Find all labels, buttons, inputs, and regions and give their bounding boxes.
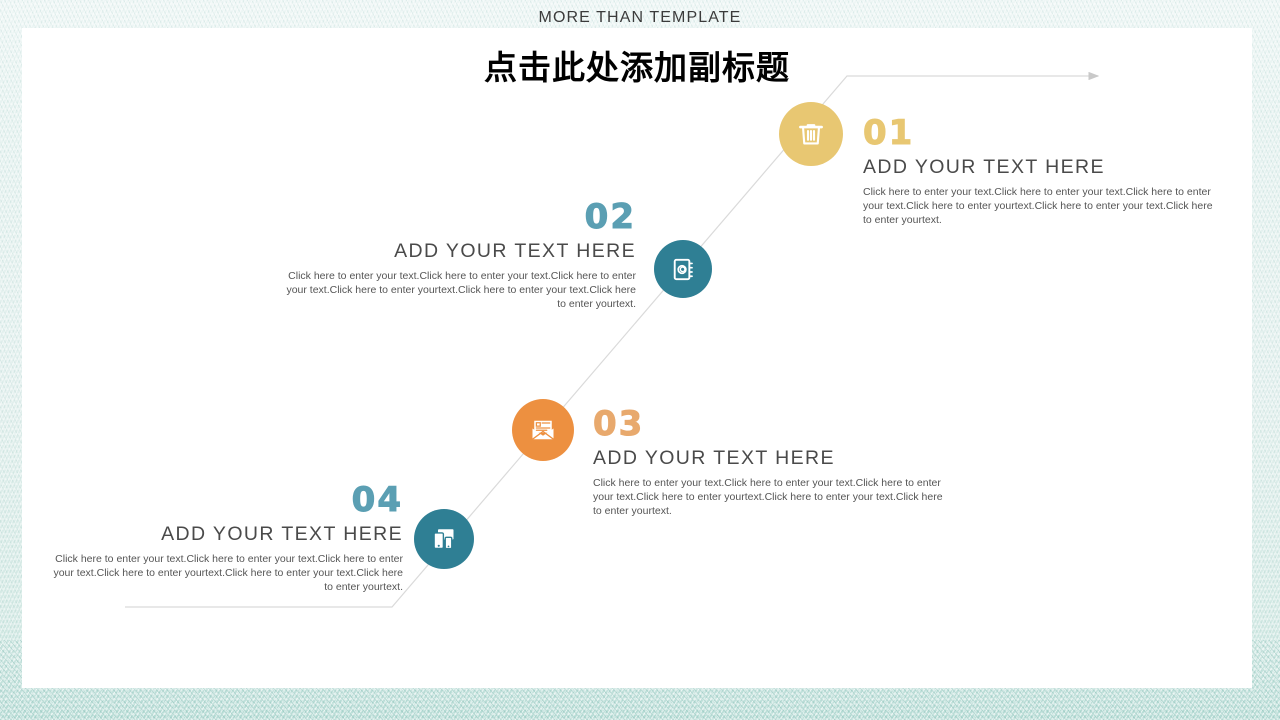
step-body-01: Click here to enter your text.Click here… [863,186,1223,228]
page-title: 点击此处添加副标题 [22,41,1252,89]
step-body-02: Click here to enter your text.Click here… [280,270,636,312]
eyebrow-label: MORE THAN TEMPLATE [0,9,1280,27]
address-book-icon[interactable] [654,240,712,298]
mail-icon[interactable] [512,399,574,461]
step-heading-02: ADD YOUR TEXT HERE [280,240,636,263]
step-body-03: Click here to enter your text.Click here… [593,477,949,519]
step-heading-03: ADD YOUR TEXT HERE [593,447,949,470]
step-heading-04: ADD YOUR TEXT HERE [47,523,403,546]
slide-content-card: 点击此处添加副标题 01 ADD YOUR TEXT HERE Click he… [22,28,1252,688]
step-block-01[interactable]: 01 ADD YOUR TEXT HERE Click here to ente… [863,116,1223,228]
step-block-04[interactable]: 04 ADD YOUR TEXT HERE Click here to ente… [47,483,403,595]
step-block-03[interactable]: 03 ADD YOUR TEXT HERE Click here to ente… [593,407,949,519]
step-heading-01: ADD YOUR TEXT HERE [863,156,1223,179]
step-number-02: 02 [280,200,636,234]
step-number-03: 03 [593,407,949,441]
step-body-04: Click here to enter your text.Click here… [47,553,403,595]
slide-canvas: MORE THAN TEMPLATE 点击此处添加副标题 01 ADD YOUR… [0,0,1280,720]
devices-icon[interactable] [414,509,474,569]
step-number-04: 04 [47,483,403,517]
step-number-01: 01 [863,116,1223,150]
trash-icon[interactable] [779,102,843,166]
step-block-02[interactable]: 02 ADD YOUR TEXT HERE Click here to ente… [280,200,636,312]
